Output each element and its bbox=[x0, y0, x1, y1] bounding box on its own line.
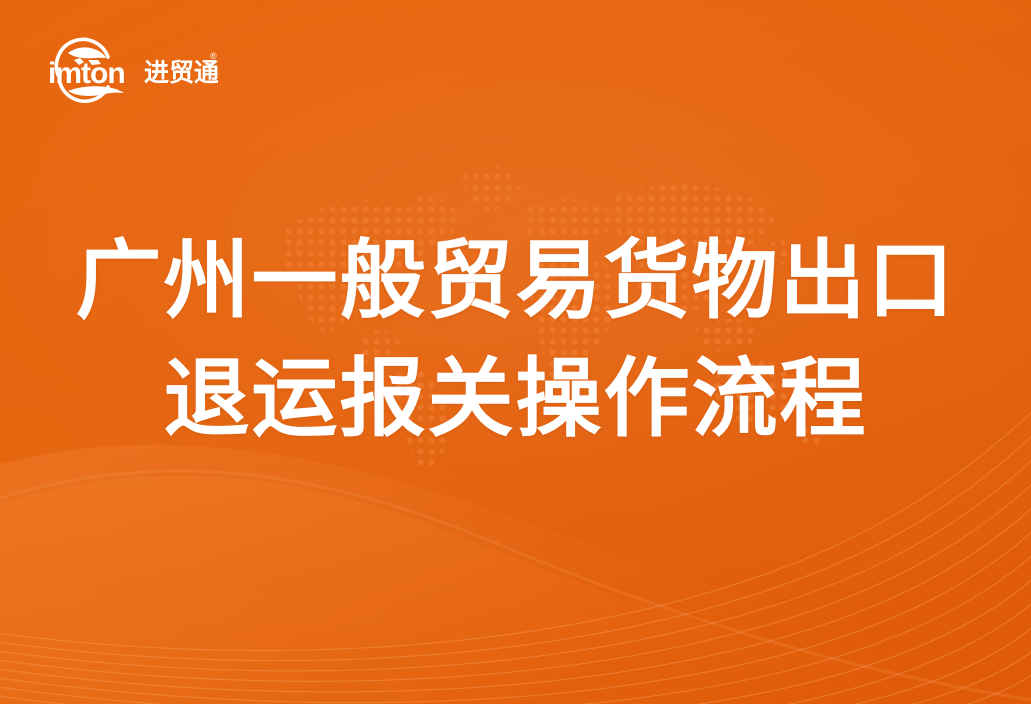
logo-cn-wordmark: 进贸通 bbox=[144, 59, 218, 87]
svg-text:进贸通: 进贸通 bbox=[144, 59, 218, 87]
svg-text:imton: imton bbox=[48, 57, 125, 90]
logo-wordmark: imton bbox=[48, 57, 125, 90]
title-line-2: 退运报关操作流程 bbox=[0, 340, 1031, 458]
poster-canvas: imton 进贸通 ® 广州一般贸易货物出口 退运报关操作流程 bbox=[0, 0, 1031, 704]
registered-trademark-symbol: ® bbox=[210, 51, 217, 61]
page-title: 广州一般贸易货物出口 退运报关操作流程 bbox=[0, 222, 1031, 458]
title-line-1: 广州一般贸易货物出口 bbox=[0, 222, 1031, 340]
brand-logo[interactable]: imton 进贸通 ® bbox=[38, 27, 218, 103]
